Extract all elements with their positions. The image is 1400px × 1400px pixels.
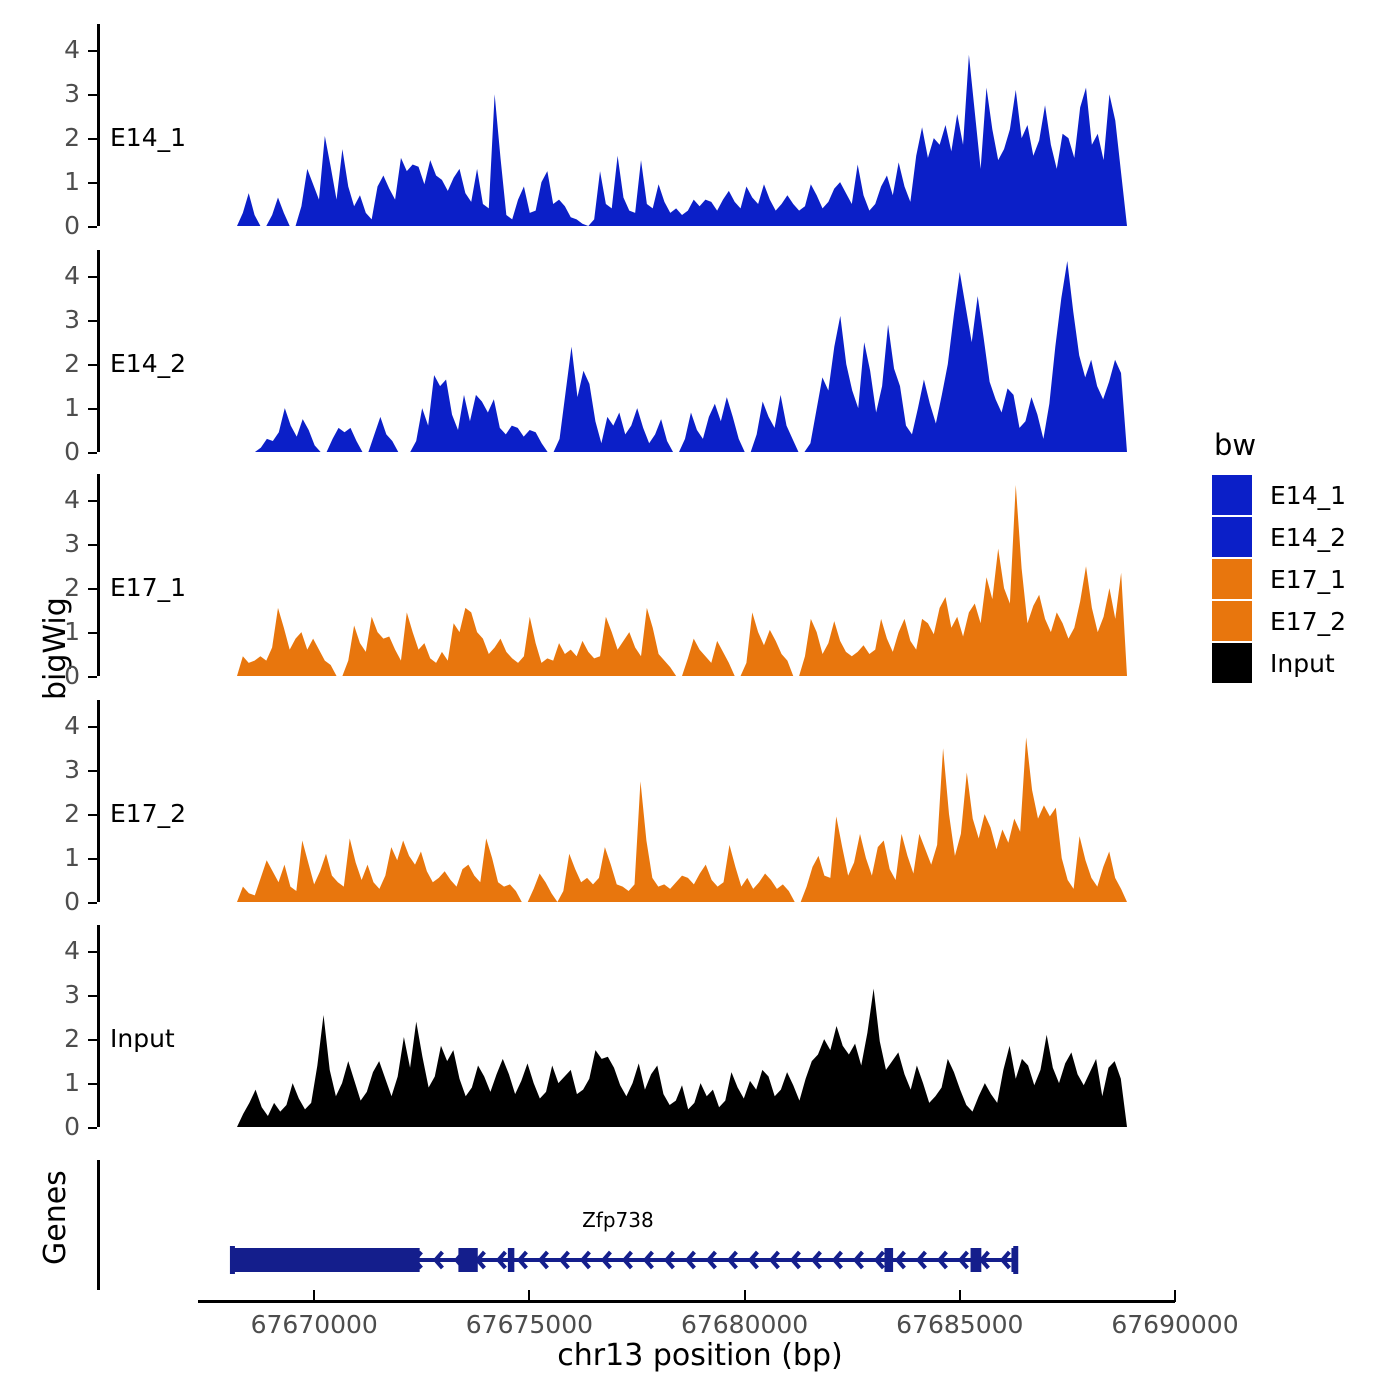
y-axis-tick-label: 0 [0,889,80,914]
gene-exon-block[interactable] [232,1248,419,1272]
legend: bw E14_1E14_2E17_1E17_2Input [1212,428,1392,684]
y-axis-tick [88,452,97,454]
y-axis-tick [88,1039,97,1041]
y-axis-tick [88,276,97,278]
x-axis-tick-label: 67670000 [251,1310,378,1339]
y-axis-tick-label: 3 [0,81,80,106]
signal-path [237,989,1127,1127]
y-axis-tick-label: 2 [0,801,80,826]
legend-item-e14_2[interactable]: E14_2 [1212,516,1392,558]
y-axis-tick [88,226,97,228]
x-axis-tick [313,1290,315,1302]
y-axis-tick-label: 3 [0,757,80,782]
legend-item-e17_1[interactable]: E17_1 [1212,558,1392,600]
y-axis-tick [88,500,97,502]
legend-label: E17_2 [1270,609,1346,634]
y-axis-tick-label: 2 [0,125,80,150]
track-name-label: E14_2 [110,351,186,376]
y-axis-tick-label: 1 [0,395,80,420]
track-name-label: E17_2 [110,801,186,826]
legend-item-input[interactable]: Input [1212,642,1392,684]
legend-label: E14_2 [1270,525,1346,550]
x-axis-tick [1174,1290,1176,1302]
legend-label: Input [1270,651,1335,676]
legend-swatch [1212,601,1252,641]
y-axis-tick [88,544,97,546]
legend-swatch [1212,517,1252,557]
y-axis-tick-label: 0 [0,439,80,464]
y-axis-tick [88,588,97,590]
y-axis-tick-label: 4 [0,713,80,738]
gene-exon-block[interactable] [458,1248,477,1272]
gene-exon-block[interactable] [884,1248,893,1272]
y-axis-tick [88,50,97,52]
y-axis-tick [88,951,97,953]
y-axis-tick-label: 3 [0,531,80,556]
y-axis-tick [88,320,97,322]
gene-exon-block[interactable] [508,1248,514,1272]
gene-exon-block[interactable] [971,1248,982,1272]
x-axis-tick-label: 67685000 [896,1310,1023,1339]
y-axis-tick [88,408,97,410]
y-axis-tick-label: 4 [0,263,80,288]
y-axis-tick [88,1127,97,1129]
y-axis-tick [88,94,97,96]
y-axis-tick-label: 1 [0,1070,80,1095]
track-name-label: E17_1 [110,575,186,600]
y-axis-line [97,24,100,226]
legend-swatch [1212,559,1252,599]
x-axis-tick [744,1290,746,1302]
legend-item-e14_1[interactable]: E14_1 [1212,474,1392,516]
y-axis-tick [88,182,97,184]
track-name-label: E14_1 [110,125,186,150]
y-axis-tick [88,676,97,678]
legend-label: E14_1 [1270,483,1346,508]
y-axis-tick-label: 4 [0,37,80,62]
gene-model[interactable] [0,1160,1400,1290]
x-axis-tick [959,1290,961,1302]
x-axis-title: chr13 position (bp) [0,1338,1400,1373]
x-axis-tick-label: 67675000 [466,1310,593,1339]
y-axis-tick-label: 1 [0,845,80,870]
y-axis-tick [88,726,97,728]
y-axis-tick [88,902,97,904]
genome-browser-figure: bigWig Genes 01234E14_101234E14_201234E1… [0,0,1400,1400]
track-name-label: Input [110,1026,175,1051]
y-axis-tick-label: 1 [0,169,80,194]
y-axis-tick-label: 3 [0,307,80,332]
y-axis-line [97,250,100,452]
y-axis-tick-label: 0 [0,1114,80,1139]
y-axis-tick-label: 2 [0,351,80,376]
y-axis-tick [88,632,97,634]
y-axis-tick-label: 2 [0,1026,80,1051]
legend-label: E17_1 [1270,567,1346,592]
y-axis-tick [88,814,97,816]
legend-title: bw [1212,428,1392,462]
y-axis-tick-label: 0 [0,213,80,238]
y-axis-tick [88,138,97,140]
signal-path [237,261,1127,452]
y-axis-line [97,474,100,676]
y-axis-line [97,925,100,1127]
y-axis-tick-label: 4 [0,938,80,963]
y-axis-tick [88,1083,97,1085]
x-axis-tick-label: 67690000 [1111,1310,1238,1339]
x-axis-tick [528,1290,530,1302]
y-axis-tick [88,858,97,860]
signal-path [237,485,1127,676]
y-axis-tick [88,995,97,997]
x-axis-line [198,1300,1175,1303]
genes-panel: Zfp738 [0,1160,1400,1290]
legend-swatch [1212,475,1252,515]
legend-swatch [1212,643,1252,683]
y-axis-tick [88,364,97,366]
legend-items: E14_1E14_2E17_1E17_2Input [1212,474,1392,684]
signal-path [237,55,1127,226]
y-axis-group-label-bigwig: bigWig [38,597,73,700]
legend-item-e17_2[interactable]: E17_2 [1212,600,1392,642]
y-axis-line [97,700,100,902]
x-axis-tick-label: 67680000 [681,1310,808,1339]
signal-path [237,737,1127,902]
y-axis-tick-label: 3 [0,982,80,1007]
y-axis-tick [88,770,97,772]
y-axis-tick-label: 4 [0,487,80,512]
